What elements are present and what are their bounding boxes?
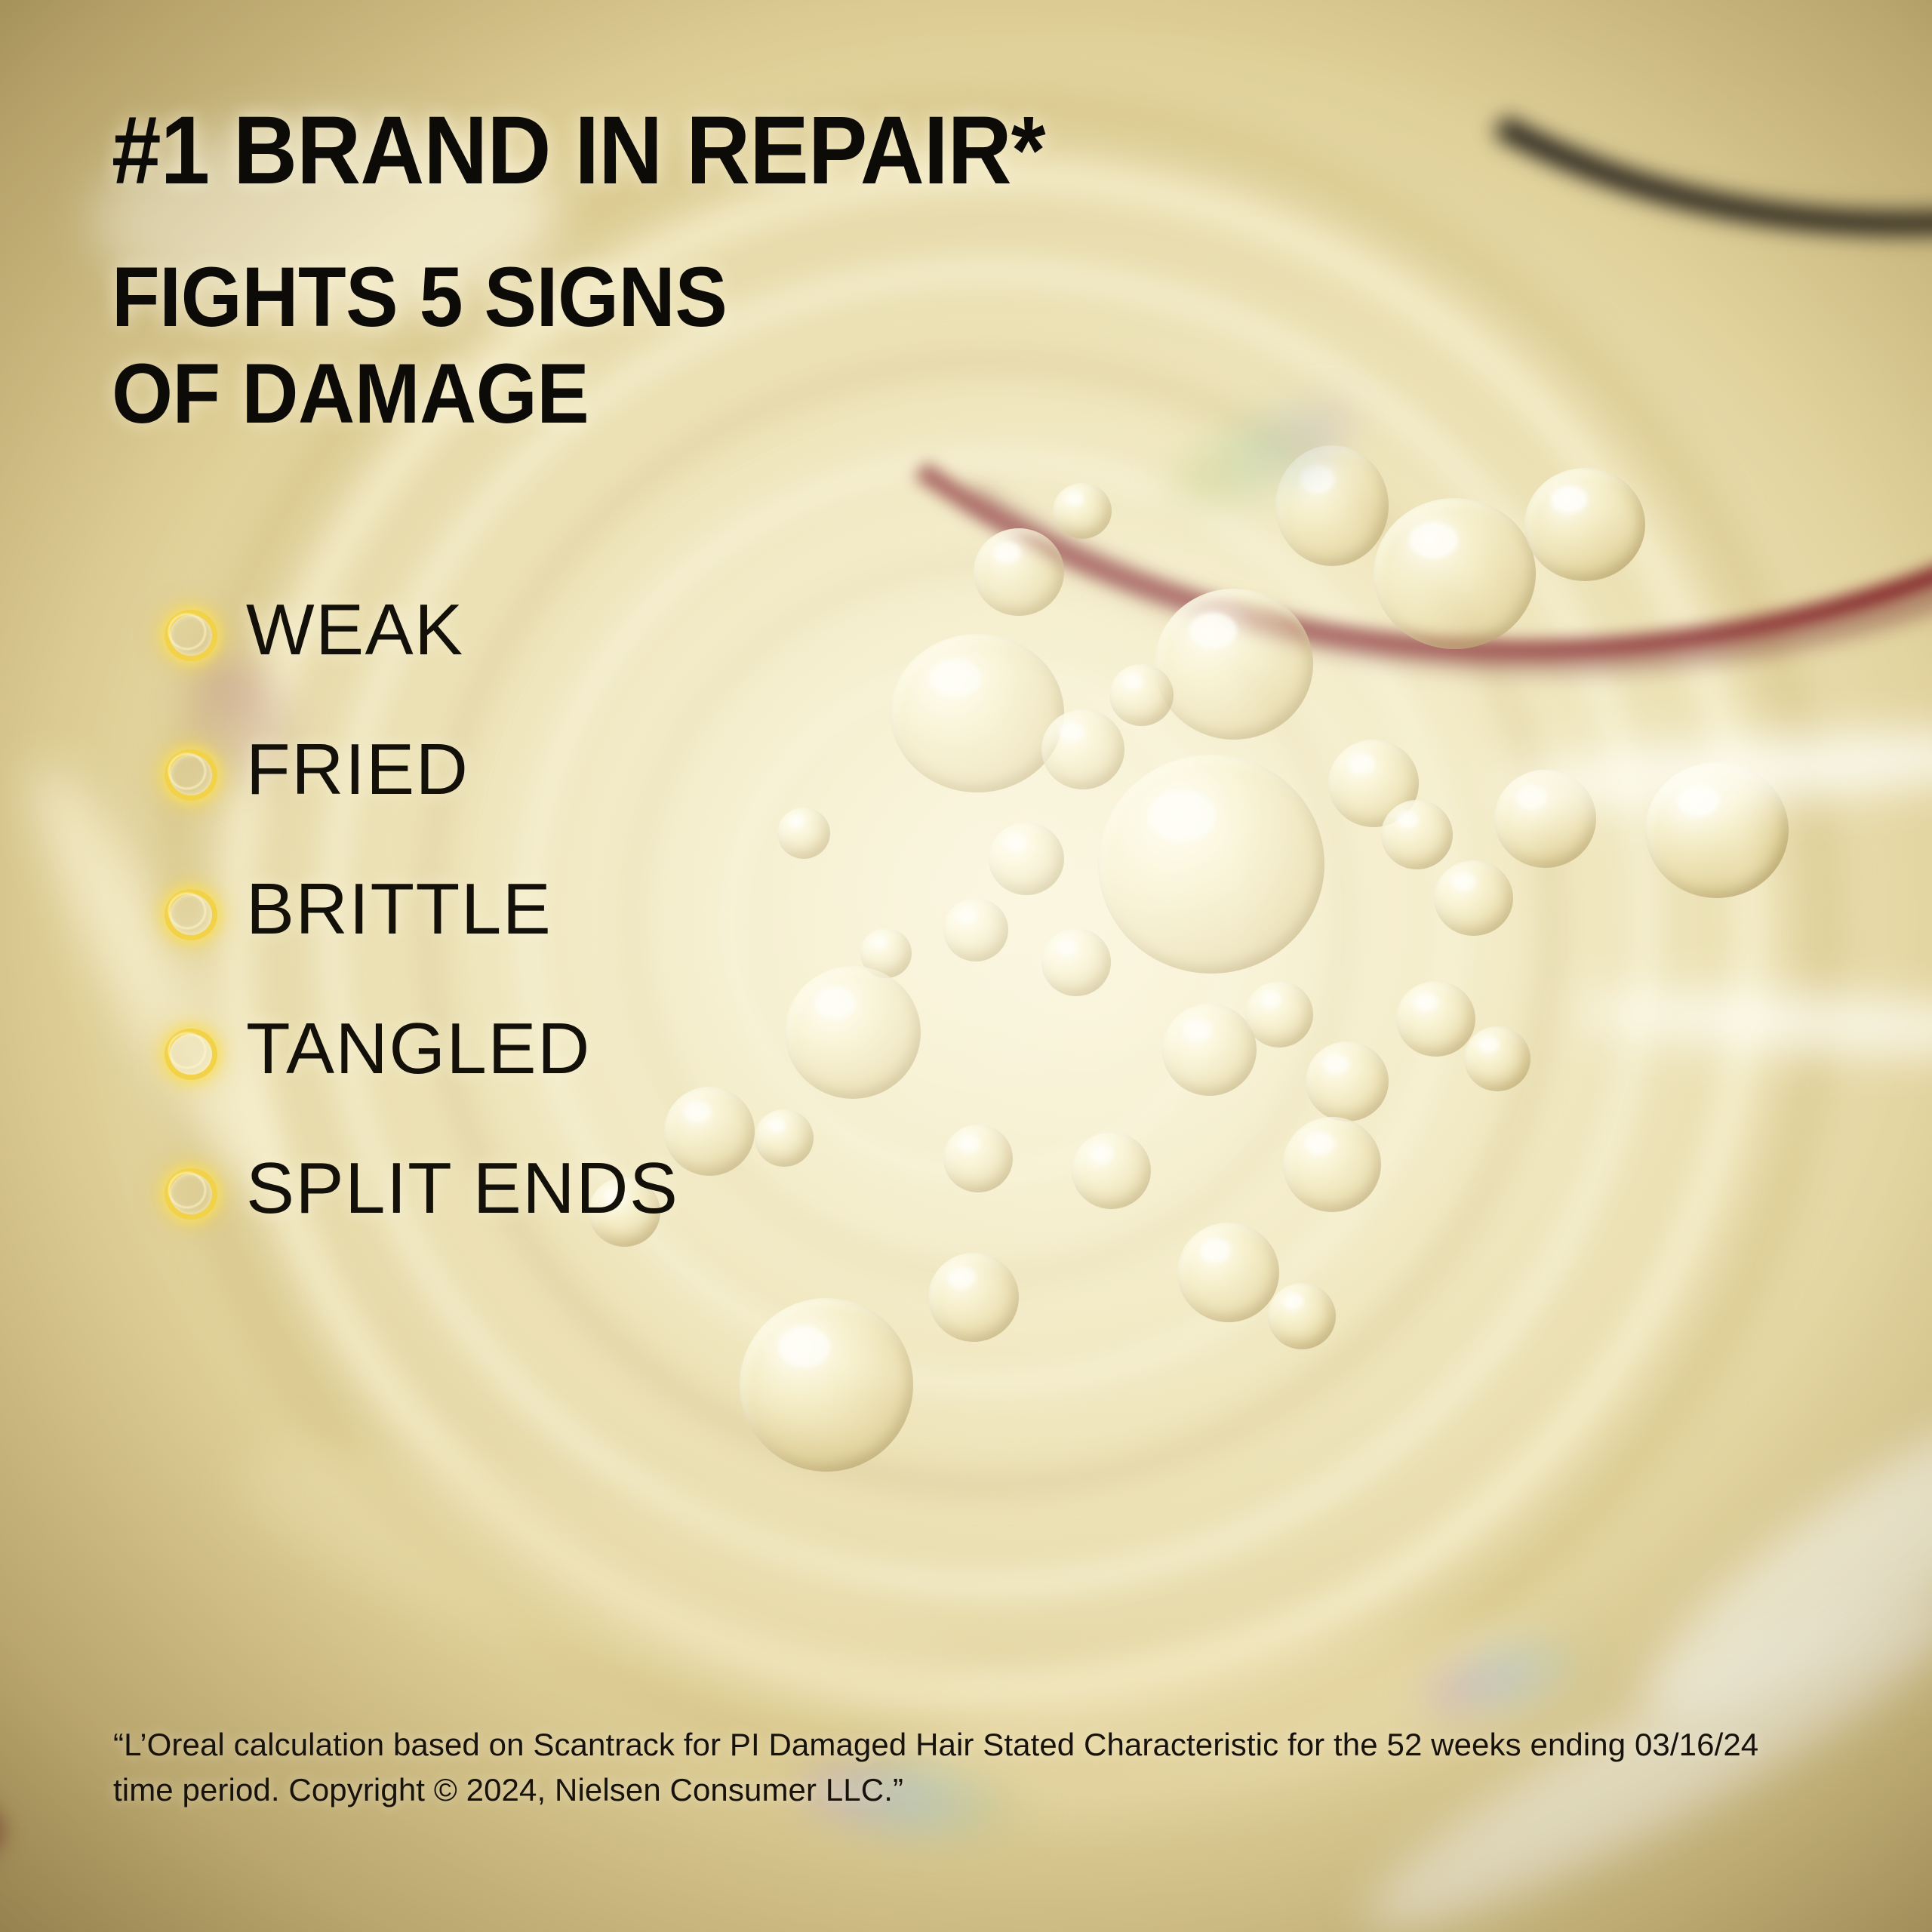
gold-ring-bullet-icon bbox=[158, 1021, 214, 1077]
damage-sign-label: TANGLED bbox=[246, 1013, 591, 1085]
subheadline-line-2: OF DAMAGE bbox=[112, 346, 727, 442]
list-item: TANGLED bbox=[158, 979, 1140, 1118]
damage-sign-label: WEAK bbox=[246, 594, 464, 666]
damage-sign-label: SPLIT ENDS bbox=[246, 1152, 678, 1225]
subheadline-claim: FIGHTS 5 SIGNS OF DAMAGE bbox=[112, 249, 727, 441]
list-item: SPLIT ENDS bbox=[158, 1118, 1140, 1258]
product-claim-image: #1 BRAND IN REPAIR* FIGHTS 5 SIGNS OF DA… bbox=[0, 0, 1932, 1932]
footnote-disclaimer: “L’Oreal calculation based on Scantrack … bbox=[113, 1722, 1826, 1812]
claim-copy-layer: #1 BRAND IN REPAIR* FIGHTS 5 SIGNS OF DA… bbox=[0, 0, 1932, 1932]
damage-sign-label: BRITTLE bbox=[246, 873, 552, 946]
gold-ring-bullet-icon bbox=[158, 602, 214, 658]
list-item: BRITTLE bbox=[158, 839, 1140, 979]
list-item: WEAK bbox=[158, 560, 1140, 700]
gold-ring-bullet-icon bbox=[158, 1161, 214, 1217]
subheadline-line-1: FIGHTS 5 SIGNS bbox=[112, 249, 727, 346]
gold-ring-bullet-icon bbox=[158, 742, 214, 798]
damage-sign-label: FRIED bbox=[246, 734, 469, 806]
list-item: FRIED bbox=[158, 700, 1140, 839]
gold-ring-bullet-icon bbox=[158, 881, 214, 937]
headline-claim: #1 BRAND IN REPAIR* bbox=[112, 103, 1045, 199]
damage-signs-list: WEAK FRIED BRITTLE TANGLED bbox=[158, 560, 1140, 1258]
